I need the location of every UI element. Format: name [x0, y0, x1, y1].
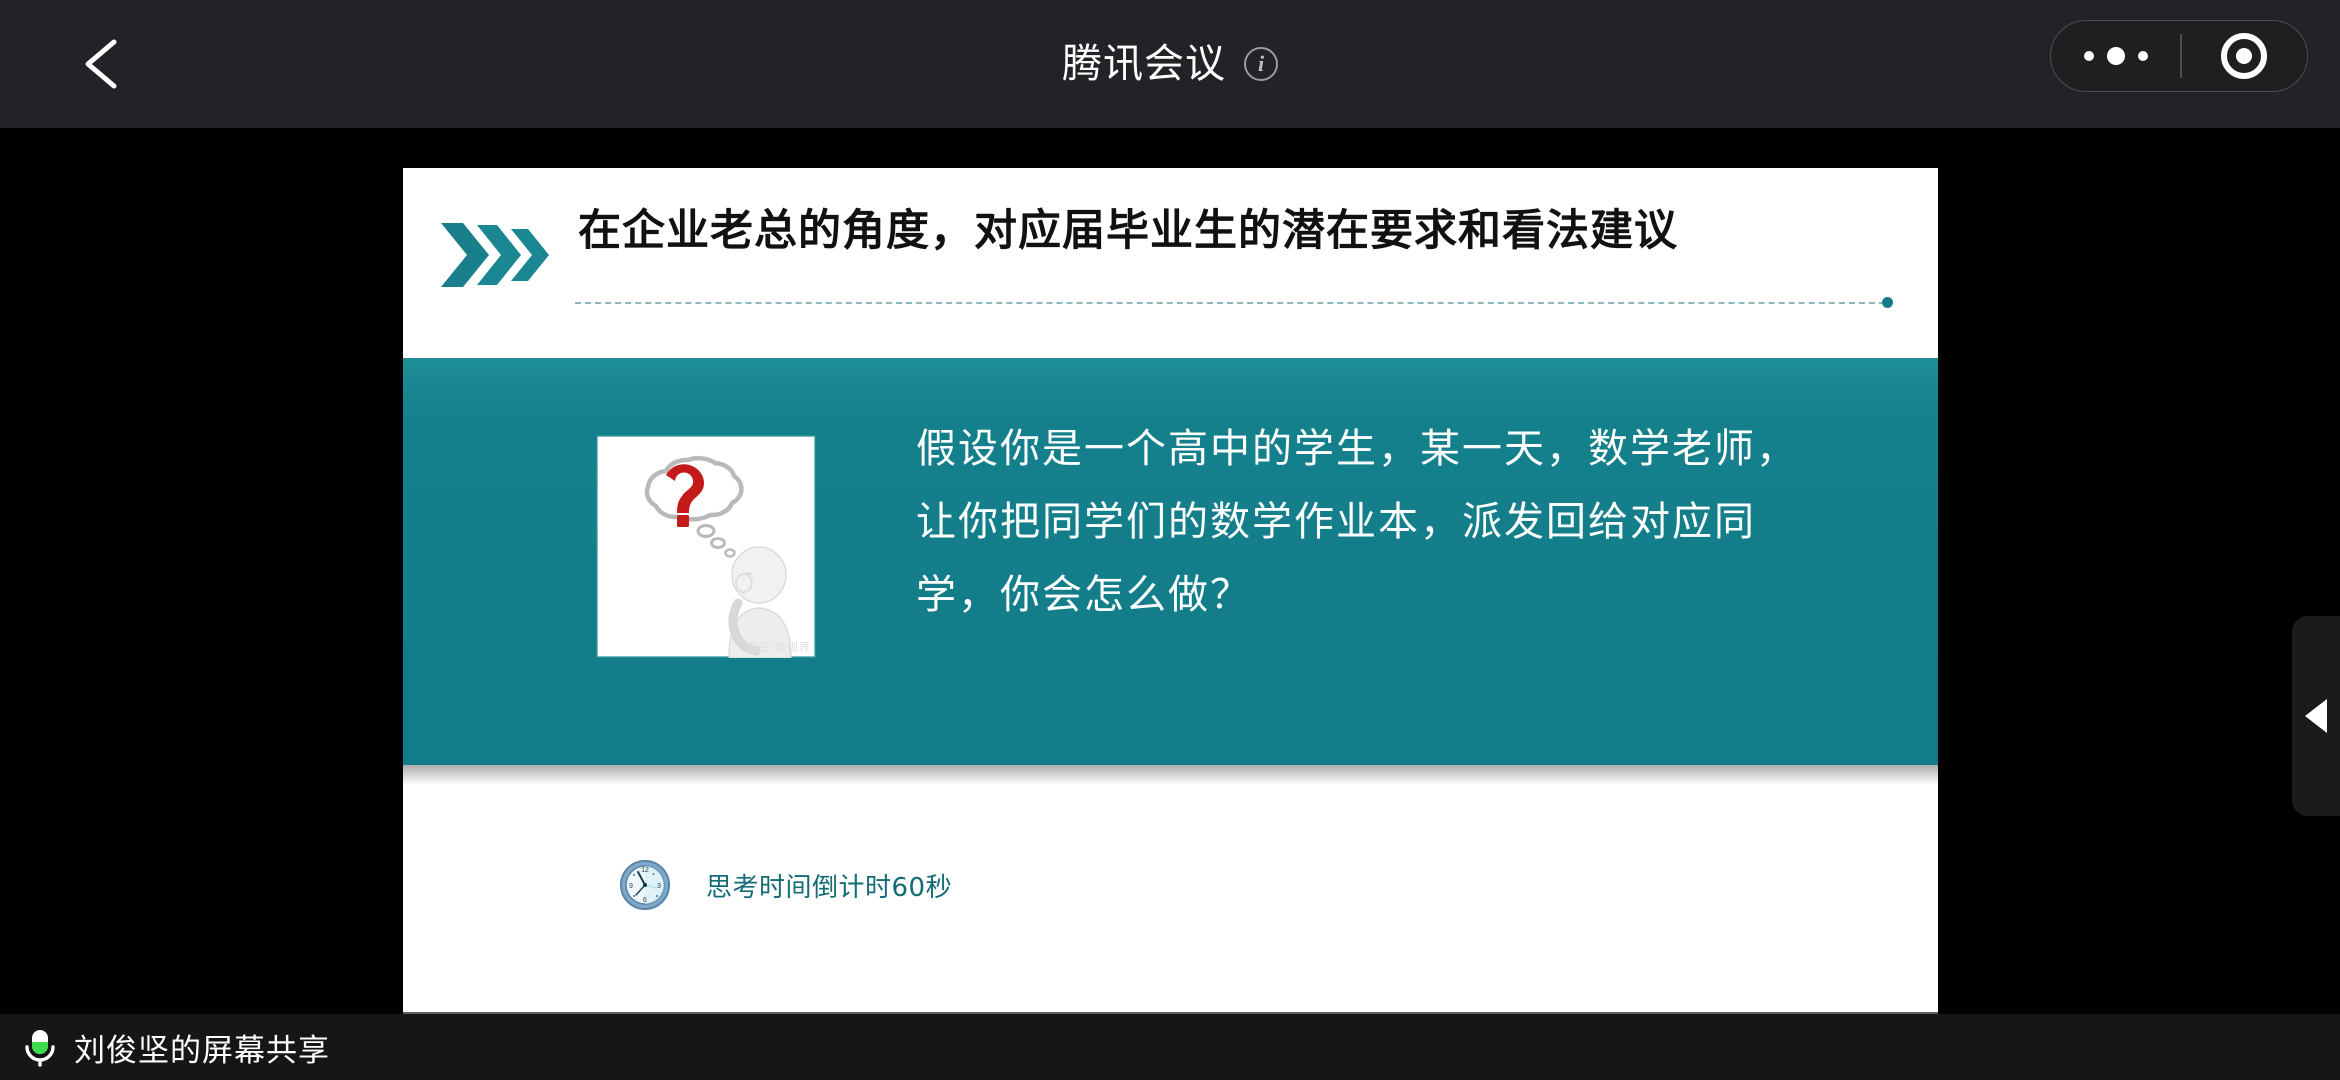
shared-screen-stage[interactable]: 在企业老总的角度，对应届毕业生的潜在要求和看法建议	[0, 128, 2340, 1080]
slide-title-rule-end-dot	[1882, 297, 1893, 308]
slide-title-zone: 在企业老总的角度，对应届毕业生的潜在要求和看法建议	[403, 168, 1938, 358]
more-dot-right	[2138, 51, 2148, 61]
capsule-close-dot	[2236, 48, 2252, 64]
bottom-status-bar: 刘俊坚的屏幕共享	[0, 1014, 2340, 1080]
presentation-slide[interactable]: 在企业老总的角度，对应届毕业生的潜在要求和看法建议	[403, 168, 1938, 1012]
triple-chevron-right-icon	[441, 220, 561, 290]
thinking-person-thought-bubble-icon: 摄图·新视界	[596, 435, 816, 658]
more-dot-center	[2107, 47, 2125, 65]
slide-content-band: 摄图·新视界 假设你是一个高中的学生，某一天，数学老师，让你把同学们的数学作业本…	[403, 358, 1938, 765]
svg-text:12: 12	[641, 867, 649, 874]
more-dot-left	[2084, 51, 2094, 61]
svg-text:9: 9	[629, 883, 633, 890]
countdown-note-text: 思考时间倒计时60秒	[706, 867, 952, 904]
wall-clock-icon: 12 3 6 9	[618, 858, 672, 912]
slide-body-text: 假设你是一个高中的学生，某一天，数学老师，让你把同学们的数学作业本，派发回给对应…	[916, 413, 1816, 631]
slide-title: 在企业老总的角度，对应届毕业生的潜在要求和看法建议	[578, 206, 1898, 258]
thinking-person-image: 摄图·新视界	[596, 435, 816, 658]
app-root: 腾讯会议 i	[0, 0, 2340, 1080]
image-watermark: 摄图·新视界	[746, 640, 811, 654]
more-dots-button[interactable]	[2051, 21, 2180, 91]
header-title-group: 腾讯会议 i	[0, 0, 2340, 128]
microphone-active-icon[interactable]	[18, 1025, 62, 1069]
svg-text:3: 3	[657, 883, 661, 890]
triangle-left-icon	[2305, 699, 2327, 733]
capsule-close-target-icon	[2221, 33, 2267, 79]
wechat-capsule	[2050, 20, 2308, 92]
countdown-note-row: 12 3 6 9 思考时间倒计时60秒	[618, 858, 952, 912]
capsule-close-button[interactable]	[2182, 21, 2308, 91]
slide-title-dashed-rule	[575, 302, 1885, 304]
app-header: 腾讯会议 i	[0, 0, 2340, 128]
side-drawer-handle[interactable]	[2292, 616, 2340, 816]
svg-text:6: 6	[643, 897, 647, 904]
screen-share-label: 刘俊坚的屏幕共享	[74, 1025, 330, 1070]
page-title: 腾讯会议	[1062, 44, 1226, 84]
info-circle-icon[interactable]: i	[1244, 47, 1278, 81]
band-drop-shadow	[403, 765, 1938, 785]
